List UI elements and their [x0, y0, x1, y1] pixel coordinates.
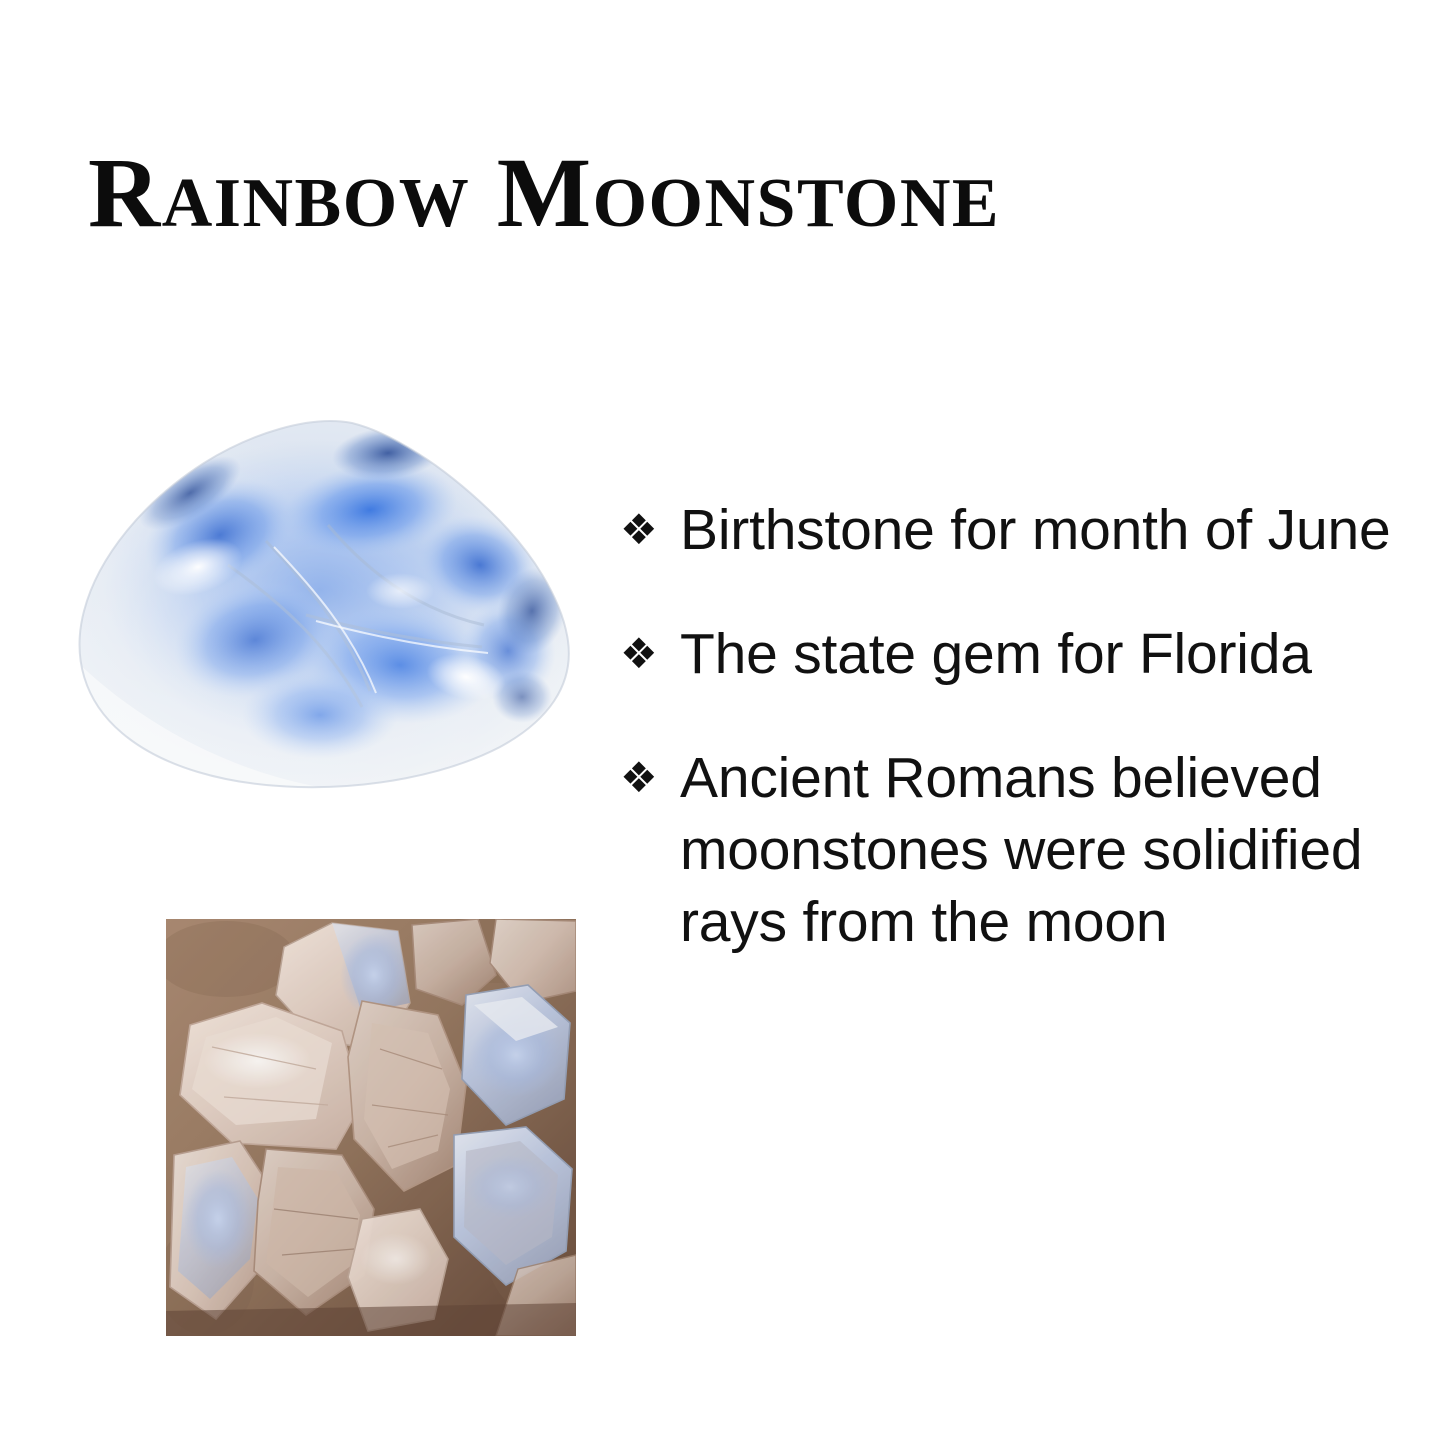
fact-text: The state gem for Florida: [680, 618, 1410, 690]
fact-text: Ancient Romans believed moonstones were …: [680, 742, 1410, 958]
fact-text: Birthstone for month of June: [680, 494, 1410, 566]
list-item: ❖ Ancient Romans believed moonstones wer…: [620, 742, 1410, 958]
page-title: Rainbow Moonstone: [88, 128, 1368, 258]
moonstone-cabochon-photo: [70, 415, 575, 797]
four-diamond-bullet-icon: ❖: [620, 618, 680, 690]
poster-canvas: Rainbow Moonstone: [0, 0, 1445, 1445]
facts-list: ❖ Birthstone for month of June ❖ The sta…: [620, 494, 1410, 958]
list-item: ❖ Birthstone for month of June: [620, 494, 1410, 566]
four-diamond-bullet-icon: ❖: [620, 494, 680, 566]
rough-moonstone-crystals-photo: [166, 919, 576, 1336]
four-diamond-bullet-icon: ❖: [620, 742, 680, 814]
list-item: ❖ The state gem for Florida: [620, 618, 1410, 690]
